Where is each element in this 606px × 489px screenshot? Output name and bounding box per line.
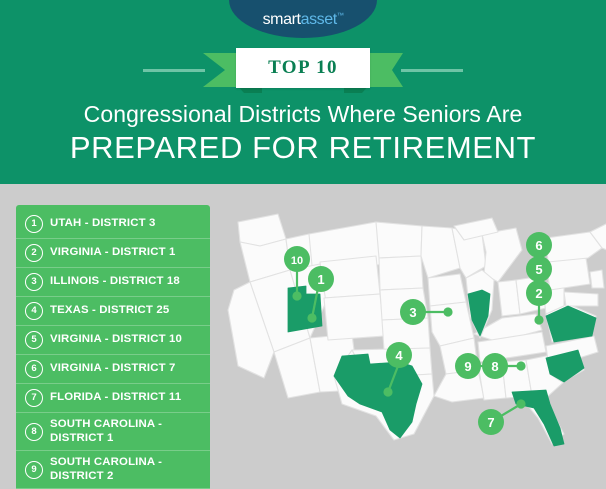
legend-item-label: FLORIDA - DISTRICT 11 [50,391,181,405]
legend-item-label: SOUTH CAROLINA - DISTRICT 1 [50,418,202,445]
map-marker-10-label: 10 [291,255,303,267]
anchor-dot-3 [443,307,452,316]
infographic-root: smartasset™ TOP 10 Congressional Distric… [0,0,606,489]
smartasset-logo[interactable]: smartasset™ [229,0,377,38]
anchor-dot-4 [383,387,392,396]
state-colorado [324,294,384,340]
legend-row[interactable]: 1UTAH - DISTRICT 3 [16,210,210,239]
legend-row[interactable]: 6VIRGINIA - DISTRICT 7 [16,355,210,384]
legend-row[interactable]: 5VIRGINIA - DISTRICT 10 [16,326,210,355]
legend-item-label: ILLINOIS - DISTRICT 18 [50,275,180,289]
page-title: Congressional Districts Where Seniors Ar… [0,100,606,167]
legend-row[interactable]: 2VIRGINIA - DISTRICT 1 [16,239,210,268]
state-maryland [564,292,598,306]
map-marker-5-label: 5 [535,262,542,277]
legend-rank-badge: 1 [25,215,43,233]
anchor-dot-10 [292,291,301,300]
legend-rank-badge: 3 [25,273,43,291]
title-headline: PREPARED FOR RETIREMENT [0,129,606,167]
state-iowa [428,274,466,306]
anchor-dot-1 [307,313,316,322]
anchor-dot-7 [516,399,525,408]
legend-row[interactable]: 7FLORIDA - DISTRICT 11 [16,384,210,413]
logo-wordmark: smartasset™ [263,11,344,29]
legend-rank-badge: 6 [25,360,43,378]
map-marker-2-label: 2 [535,286,542,301]
state-michigan [482,228,522,282]
map-marker-6-label: 6 [535,238,542,253]
legend-item-label: TEXAS - DISTRICT 25 [50,304,169,318]
legend-rank-badge: 7 [25,389,43,407]
legend-item-label: UTAH - DISTRICT 3 [50,217,155,231]
legend-rank-badge: 4 [25,302,43,320]
legend-rank-badge: 2 [25,244,43,262]
logo-smart-text: smart [263,11,301,28]
logo-asset-text: asset [301,11,337,28]
legend-row[interactable]: 9SOUTH CAROLINA - DISTRICT 2 [16,451,210,489]
map-marker-8-label: 8 [491,359,498,374]
legend-row[interactable]: 8SOUTH CAROLINA - DISTRICT 1 [16,413,210,451]
legend-row[interactable]: 3ILLINOIS - DISTRICT 18 [16,268,210,297]
legend-row[interactable]: 4TEXAS - DISTRICT 25 [16,297,210,326]
ribbon-label: TOP 10 [268,57,338,79]
legend-rank-badge: 8 [25,423,43,441]
trademark-icon: ™ [337,13,344,20]
legend-item-label: SOUTH CAROLINA - DISTRICT 2 [50,456,202,483]
ranking-legend-panel: 1UTAH - DISTRICT 32VIRGINIA - DISTRICT 1… [16,205,210,489]
ribbon-label-box: TOP 10 [236,48,370,88]
map-marker-1-label: 1 [317,272,324,287]
map-marker-3-label: 3 [409,305,416,320]
map-marker-7-label: 7 [487,415,494,430]
legend-rank-badge: 9 [25,461,43,479]
map-marker-4-label: 4 [395,348,403,363]
state-northdakota [376,222,422,258]
top-ten-ribbon: TOP 10 [0,48,606,92]
legend-item-label: VIRGINIA - DISTRICT 7 [50,362,176,376]
legend-rank-badge: 5 [25,331,43,349]
state-newjersey [590,270,604,288]
us-map: 10 1 3 4 6 [216,190,606,489]
us-map-svg: 10 1 3 4 6 [216,190,606,489]
state-southdakota [379,256,423,290]
ribbon-rule-left [143,69,205,72]
title-subline: Congressional Districts Where Seniors Ar… [0,100,606,128]
legend-item-label: VIRGINIA - DISTRICT 10 [50,333,182,347]
state-pennsylvania [546,258,590,290]
anchor-dot-2 [534,315,543,324]
ribbon-rule-right [401,69,463,72]
legend-item-label: VIRGINIA - DISTRICT 1 [50,246,176,260]
header-band: smartasset™ TOP 10 Congressional Distric… [0,0,606,184]
map-marker-9-label: 9 [464,359,471,374]
anchor-dot-8 [516,361,525,370]
